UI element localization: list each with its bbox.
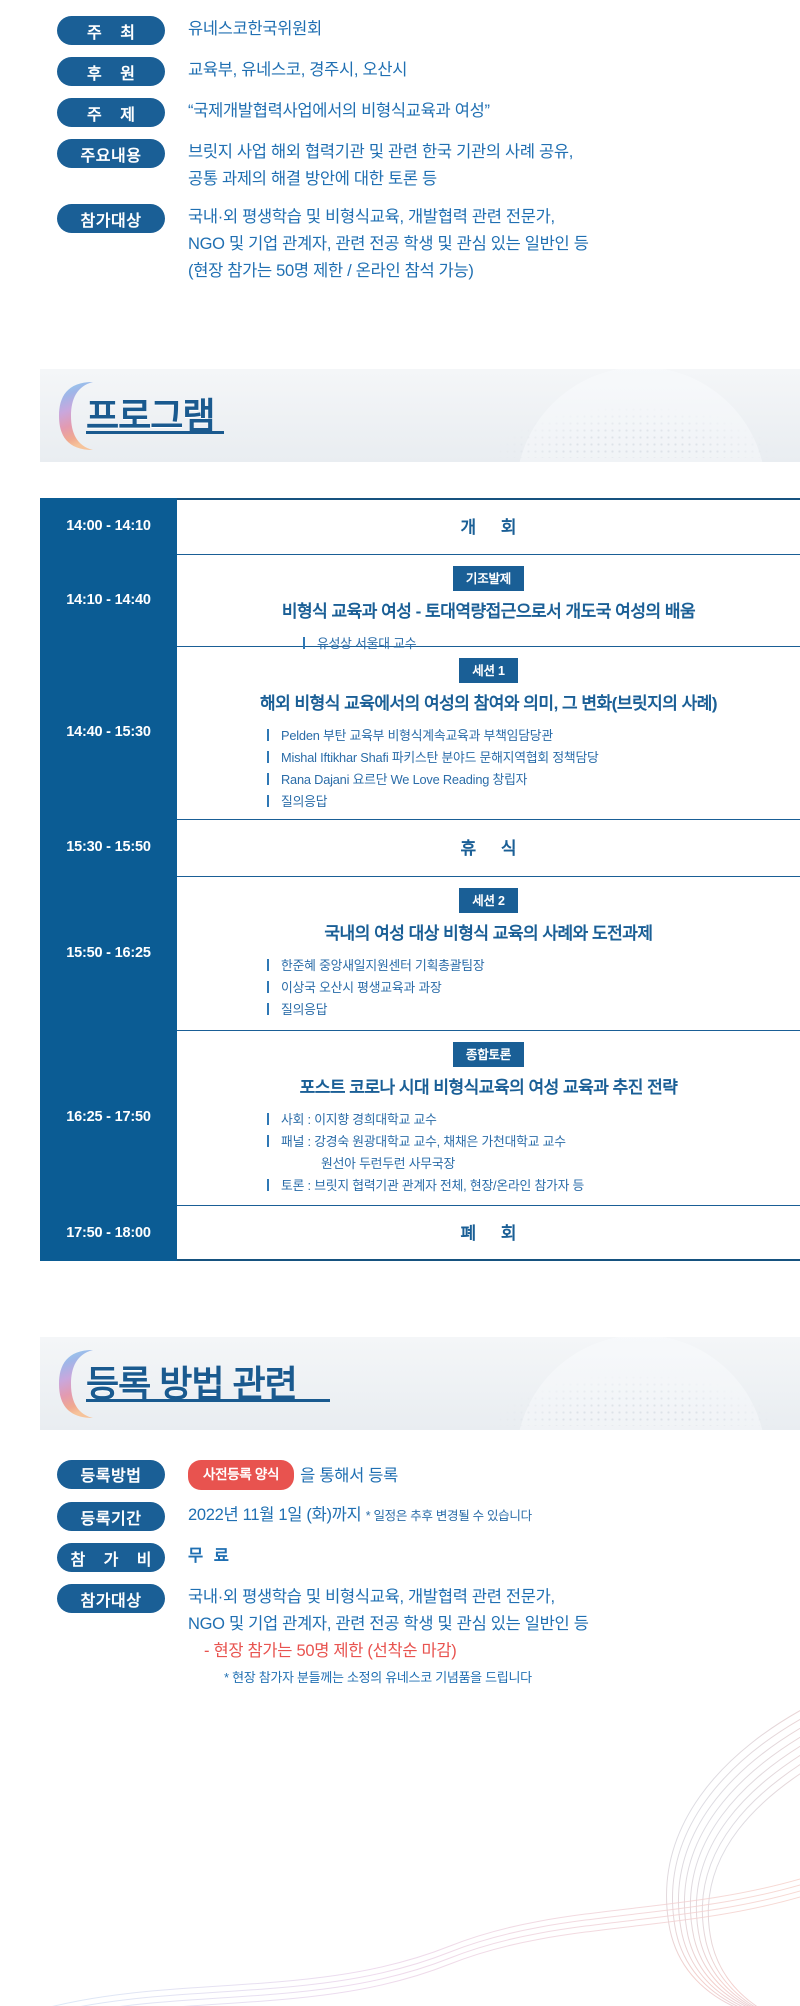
schedule-title: 해외 비형식 교육에서의 여성의 참여와 의미, 그 변화(브릿지의 사례) <box>193 689 784 714</box>
schedule-body: 세션 2 국내의 여성 대상 비형식 교육의 사례와 도전과제 한준혜 중앙새일… <box>177 876 800 1030</box>
registration-method-value: 사전등록 양식을 통해서 등록 <box>188 1458 398 1491</box>
registration-period-value: 2022년 11월 1일 (화)까지 * 일정은 추후 변경될 수 있습니다 <box>188 1500 532 1529</box>
speaker-name: 이상국 오산시 평생교육과 과장 <box>281 980 442 995</box>
speaker-name: 사회 : 이지향 경희대학교 교수 <box>281 1112 437 1127</box>
list-item: 질의응답 <box>267 999 784 1021</box>
info-row-content: 주요내용 브릿지 사업 해외 협력기관 및 관련 한국 기관의 사례 공유, 공… <box>57 137 800 192</box>
schedule-time: 15:30 - 15:50 <box>40 819 177 876</box>
info-value-audience: 국내·외 평생학습 및 비형식교육, 개발협력 관련 전문가, NGO 및 기업… <box>188 202 589 284</box>
schedule-title: 포스트 코로나 시대 비형식교육의 여성 교육과 추진 전략 <box>193 1073 784 1098</box>
program-banner-underline <box>86 431 224 434</box>
schedule-title: 폐 회 <box>177 1205 800 1261</box>
list-item: 질의응답 <box>267 791 784 813</box>
speaker-name: 질의응답 <box>281 1002 327 1017</box>
pre-registration-form-button[interactable]: 사전등록 양식 <box>188 1460 294 1491</box>
bullet-bar-icon <box>267 981 269 993</box>
poster-page: 주 최 유네스코한국위원회 후 원 교육부, 유네스코, 경주시, 오산시 주 … <box>0 0 800 2006</box>
bullet-bar-icon <box>267 1003 269 1015</box>
label-pill-audience: 참가대상 <box>57 204 165 233</box>
bullet-bar-icon <box>267 1179 269 1191</box>
banner-dot-pattern <box>490 406 780 458</box>
bullet-bar-icon <box>267 1135 269 1147</box>
program-schedule-table: 14:00 - 14:10 개 회 14:10 - 14:40 기조발제 비형식… <box>40 498 800 1261</box>
info-value-host: 유네스코한국위원회 <box>188 14 322 43</box>
session-badge: 기조발제 <box>453 566 524 591</box>
bullet-bar-icon <box>267 729 269 741</box>
label-pill-content: 주요내용 <box>57 139 165 168</box>
registration-details: 등록방법 사전등록 양식을 통해서 등록 등록기간 2022년 11월 1일 (… <box>0 1430 800 1688</box>
audience-souvenir-note: * 현장 참가자 분들께는 소정의 유네스코 기념품을 드립니다 <box>188 1665 589 1688</box>
speaker-name: Rana Dajani 요르단 We Love Reading 창립자 <box>281 772 527 787</box>
audience-limit-notice: - 현장 참가는 50명 제한 (선착순 마감) <box>188 1638 589 1665</box>
bullet-bar-icon <box>303 637 305 649</box>
speaker-list: Pelden 부탄 교육부 비형식계속교육과 부책임담당관 Mishal Ift… <box>193 725 784 813</box>
info-row-sponsor: 후 원 교육부, 유네스코, 경주시, 오산시 <box>57 55 800 86</box>
info-row-audience: 참가대상 국내·외 평생학습 및 비형식교육, 개발협력 관련 전문가, NGO… <box>57 202 800 284</box>
audience-line-2: NGO 및 기업 관계자, 관련 전공 학생 및 관심 있는 일반인 등 <box>188 1611 589 1638</box>
speaker-name: 질의응답 <box>281 794 327 809</box>
decorative-ribbon-right <box>520 1700 800 2006</box>
list-item: Rana Dajani 요르단 We Love Reading 창립자 <box>267 769 784 791</box>
registration-fee-row: 참 가 비 무 료 <box>57 1541 800 1572</box>
registration-method-row: 등록방법 사전등록 양식을 통해서 등록 <box>57 1458 800 1491</box>
info-row-host: 주 최 유네스코한국위원회 <box>57 14 800 45</box>
registration-period-note: * 일정은 추후 변경될 수 있습니다 <box>366 1509 532 1523</box>
list-item: 패널 : 강경숙 원광대학교 교수, 채채은 가천대학교 교수 <box>267 1131 784 1153</box>
session-badge: 세션 2 <box>459 888 518 913</box>
schedule-body: 종합토론 포스트 코로나 시대 비형식교육의 여성 교육과 추진 전략 사회 :… <box>177 1030 800 1205</box>
bullet-bar-icon <box>267 1113 269 1125</box>
session-badge: 종합토론 <box>453 1042 524 1067</box>
registration-deadline: 2022년 11월 1일 (화)까지 <box>188 1506 361 1524</box>
schedule-row: 17:50 - 18:00 폐 회 <box>40 1205 800 1261</box>
banner-dot-pattern <box>490 1374 780 1426</box>
speaker-list: 한준혜 중앙새일지원센터 기획총괄팀장 이상국 오산시 평생교육과 과장 질의응… <box>193 955 784 1021</box>
schedule-row: 14:40 - 15:30 세션 1 해외 비형식 교육에서의 여성의 참여와 … <box>40 646 800 819</box>
info-value-content: 브릿지 사업 해외 협력기관 및 관련 한국 기관의 사례 공유, 공통 과제의… <box>188 137 573 192</box>
program-banner: 프로그램 <box>40 369 800 462</box>
speaker-name: 원선아 두런두런 사무국장 <box>321 1156 455 1171</box>
bullet-bar-icon <box>267 751 269 763</box>
list-item: 원선아 두런두런 사무국장 <box>267 1153 784 1175</box>
schedule-title: 개 회 <box>177 498 800 554</box>
schedule-row: 16:25 - 17:50 종합토론 포스트 코로나 시대 비형식교육의 여성 … <box>40 1030 800 1205</box>
schedule-row: 15:50 - 16:25 세션 2 국내의 여성 대상 비형식 교육의 사례와… <box>40 876 800 1030</box>
label-pill-method: 등록방법 <box>57 1460 165 1489</box>
audience-line-1: 국내·외 평생학습 및 비형식교육, 개발협력 관련 전문가, <box>188 1584 589 1611</box>
bullet-bar-icon <box>267 959 269 971</box>
list-item: 이상국 오산시 평생교육과 과장 <box>267 977 784 999</box>
schedule-title: 비형식 교육과 여성 - 토대역량접근으로서 개도국 여성의 배움 <box>193 597 784 622</box>
speaker-list: 사회 : 이지향 경희대학교 교수 패널 : 강경숙 원광대학교 교수, 채채은… <box>193 1109 784 1197</box>
decorative-ribbon-bottom <box>0 1856 800 2006</box>
schedule-time: 16:25 - 17:50 <box>40 1030 177 1205</box>
speaker-name: 유성상 서울대 교수 <box>317 636 416 651</box>
speaker-name: Mishal Iftikhar Shafi 파키스탄 분야드 문해지역협회 정책… <box>281 750 599 765</box>
schedule-time: 14:40 - 15:30 <box>40 646 177 819</box>
info-value-topic: “국제개발협력사업에서의 비형식교육과 여성” <box>188 96 490 125</box>
label-pill-period: 등록기간 <box>57 1502 165 1531</box>
schedule-title: 국내의 여성 대상 비형식 교육의 사례와 도전과제 <box>193 919 784 944</box>
label-pill-topic: 주 제 <box>57 98 165 127</box>
registration-fee-value: 무 료 <box>188 1541 232 1570</box>
label-pill-host: 주 최 <box>57 16 165 45</box>
info-row-topic: 주 제 “국제개발협력사업에서의 비형식교육과 여성” <box>57 96 800 127</box>
schedule-title: 휴 식 <box>177 819 800 876</box>
registration-banner: 등록 방법 관련 <box>40 1337 800 1430</box>
list-item: 유성상 서울대 교수 <box>303 633 784 655</box>
registration-method-suffix: 을 통해서 등록 <box>300 1467 398 1485</box>
label-pill-sponsor: 후 원 <box>57 57 165 86</box>
bullet-bar-icon <box>267 773 269 785</box>
speaker-name: Pelden 부탄 교육부 비형식계속교육과 부책임담당관 <box>281 728 553 743</box>
schedule-time: 15:50 - 16:25 <box>40 876 177 1030</box>
list-item: 사회 : 이지향 경희대학교 교수 <box>267 1109 784 1131</box>
event-info-block: 주 최 유네스코한국위원회 후 원 교육부, 유네스코, 경주시, 오산시 주 … <box>0 0 800 285</box>
label-pill-fee: 참 가 비 <box>57 1543 165 1572</box>
schedule-row: 14:00 - 14:10 개 회 <box>40 498 800 554</box>
session-badge: 세션 1 <box>459 658 518 683</box>
registration-banner-underline <box>86 1399 330 1402</box>
registration-audience-value: 국내·외 평생학습 및 비형식교육, 개발협력 관련 전문가, NGO 및 기업… <box>188 1582 589 1687</box>
schedule-row: 14:10 - 14:40 기조발제 비형식 교육과 여성 - 토대역량접근으로… <box>40 554 800 646</box>
info-value-sponsor: 교육부, 유네스코, 경주시, 오산시 <box>188 55 407 84</box>
list-item: Pelden 부탄 교육부 비형식계속교육과 부책임담당관 <box>267 725 784 747</box>
schedule-time: 17:50 - 18:00 <box>40 1205 177 1261</box>
list-item: 토론 : 브릿지 협력기관 관계자 전체, 현장/온라인 참가자 등 <box>267 1175 784 1197</box>
schedule-body: 기조발제 비형식 교육과 여성 - 토대역량접근으로서 개도국 여성의 배움 유… <box>177 554 800 646</box>
label-pill-audience-2: 참가대상 <box>57 1584 165 1613</box>
speaker-name: 한준혜 중앙새일지원센터 기획총괄팀장 <box>281 958 484 973</box>
schedule-time: 14:10 - 14:40 <box>40 554 177 646</box>
registration-audience-row: 참가대상 국내·외 평생학습 및 비형식교육, 개발협력 관련 전문가, NGO… <box>57 1582 800 1687</box>
registration-period-row: 등록기간 2022년 11월 1일 (화)까지 * 일정은 추후 변경될 수 있… <box>57 1500 800 1531</box>
bullet-bar-icon <box>267 795 269 807</box>
schedule-time: 14:00 - 14:10 <box>40 498 177 554</box>
list-item: Mishal Iftikhar Shafi 파키스탄 분야드 문해지역협회 정책… <box>267 747 784 769</box>
schedule-row: 15:30 - 15:50 휴 식 <box>40 819 800 876</box>
schedule-body: 세션 1 해외 비형식 교육에서의 여성의 참여와 의미, 그 변화(브릿지의 … <box>177 646 800 819</box>
speaker-name: 토론 : 브릿지 협력기관 관계자 전체, 현장/온라인 참가자 등 <box>281 1178 584 1193</box>
list-item: 한준혜 중앙새일지원센터 기획총괄팀장 <box>267 955 784 977</box>
speaker-name: 패널 : 강경숙 원광대학교 교수, 채채은 가천대학교 교수 <box>281 1134 566 1149</box>
